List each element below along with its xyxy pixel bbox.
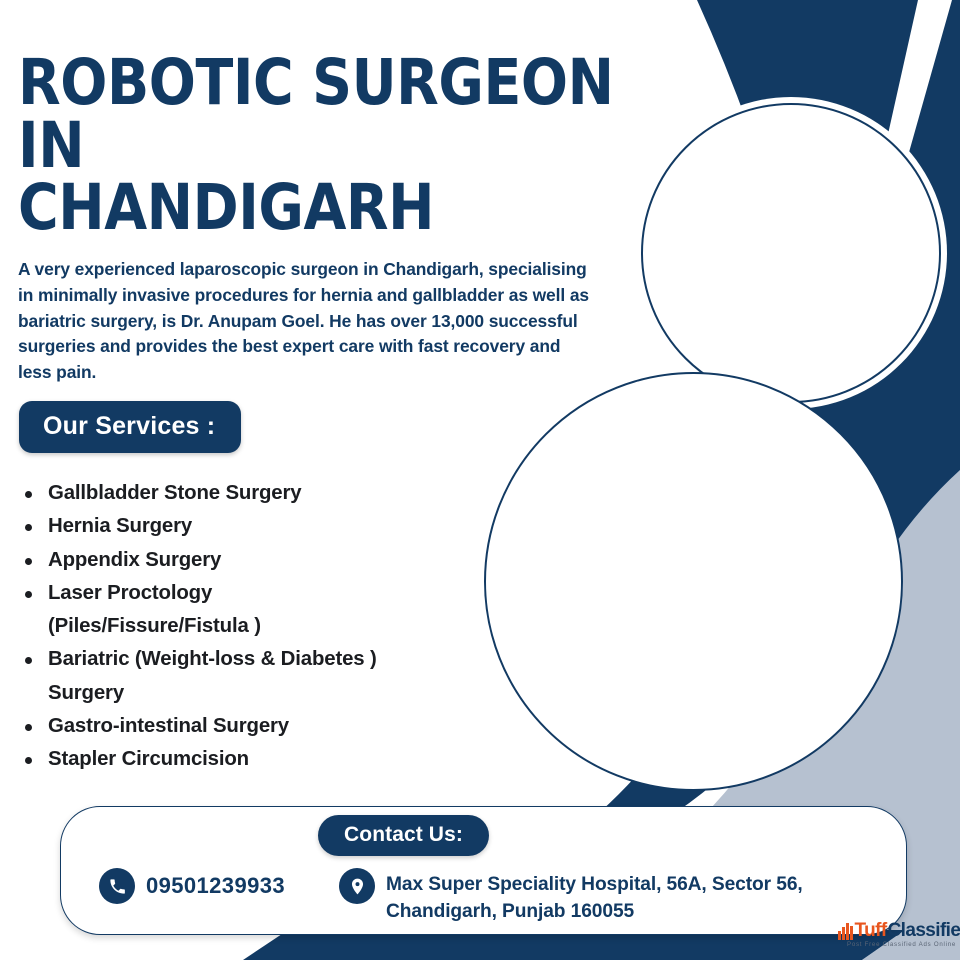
services-heading-badge: Our Services : <box>19 401 241 453</box>
page-title: ROBOTIC SURGEON IN CHANDIGARH <box>18 52 625 239</box>
services-list: Gallbladder Stone Surgery Hernia Surgery… <box>16 477 486 776</box>
watermark-bars-icon <box>838 923 853 940</box>
clinic-address[interactable]: Max Super Speciality Hospital, 56A, Sect… <box>386 871 906 926</box>
surgery-photo-ring <box>484 372 903 791</box>
watermark-brand-classified: Classified <box>888 921 960 940</box>
tuffclassified-watermark: Tuff Classified Post Free Classified Ads… <box>838 921 956 948</box>
list-item: Laser Proctology (Piles/Fissure/Fistula … <box>16 577 486 644</box>
list-item: Hernia Surgery <box>16 510 486 543</box>
list-item: Gallbladder Stone Surgery <box>16 477 486 510</box>
map-pin-icon[interactable] <box>339 868 375 904</box>
doctor-portrait-ring <box>641 103 941 403</box>
list-item: Appendix Surgery <box>16 544 486 577</box>
list-item: Bariatric (Weight-loss & Diabetes ) Surg… <box>16 643 486 710</box>
phone-icon[interactable] <box>99 868 135 904</box>
list-item: Gastro-intestinal Surgery <box>16 710 486 743</box>
contact-heading-badge: Contact Us: <box>318 815 489 856</box>
intro-paragraph: A very experienced laparoscopic surgeon … <box>18 257 593 385</box>
watermark-brand-tuff: Tuff <box>855 921 887 940</box>
poster-canvas: ROBOTIC SURGEON IN CHANDIGARH A very exp… <box>0 0 960 960</box>
list-item: Stapler Circumcision <box>16 743 486 776</box>
phone-number[interactable]: 09501239933 <box>146 873 285 899</box>
watermark-tagline: Post Free Classified Ads Online <box>838 941 956 948</box>
